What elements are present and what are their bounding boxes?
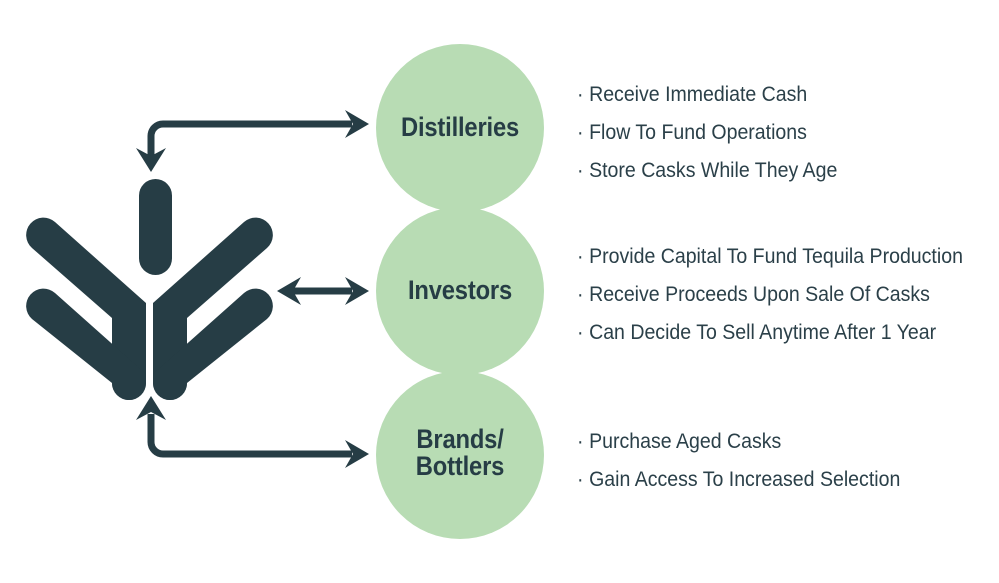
bullet-list-distilleries: ·Receive Immediate Cash ·Flow To Fund Op… [577, 76, 857, 191]
node-circle-investors[interactable] [376, 207, 544, 375]
connector-distilleries [136, 110, 369, 172]
bullet-dot-icon: · [577, 276, 589, 314]
node-circle-brands-bottlers[interactable] [376, 371, 544, 539]
bullet-item: ·Purchase Aged Casks [577, 423, 900, 461]
bullet-text: Receive Proceeds Upon Sale Of Casks [589, 283, 930, 306]
bullet-text: Flow To Fund Operations [589, 121, 807, 144]
connector-investors [277, 277, 369, 305]
bullet-dot-icon: · [577, 314, 589, 352]
logo-center-stem [139, 179, 172, 275]
bullet-dot-icon: · [577, 238, 589, 276]
bullet-item: ·Receive Proceeds Upon Sale Of Casks [577, 276, 963, 314]
bullet-item: ·Store Casks While They Age [577, 152, 837, 190]
bullet-dot-icon: · [577, 461, 589, 499]
agave-logo [26, 179, 273, 400]
bullet-text: Receive Immediate Cash [589, 83, 807, 106]
bullet-text: Purchase Aged Casks [589, 430, 781, 453]
node-circle-distilleries[interactable] [376, 44, 544, 212]
connector-brands-line [151, 414, 352, 454]
bullet-list-investors: ·Provide Capital To Fund Tequila Product… [577, 238, 992, 353]
diagram-canvas: Distilleries Investors Brands/ Bottlers … [0, 0, 999, 583]
bullet-text: Gain Access To Increased Selection [589, 468, 900, 491]
bullet-item: ·Flow To Fund Operations [577, 114, 837, 152]
bullet-dot-icon: · [577, 76, 589, 114]
bullet-item: ·Provide Capital To Fund Tequila Product… [577, 238, 963, 276]
bullet-dot-icon: · [577, 423, 589, 461]
bullet-dot-icon: · [577, 152, 589, 190]
connector-distilleries-line [151, 124, 352, 162]
bullet-item: ·Can Decide To Sell Anytime After 1 Year [577, 314, 963, 352]
bullet-item: ·Receive Immediate Cash [577, 76, 837, 114]
bullet-text: Provide Capital To Fund Tequila Producti… [589, 245, 963, 268]
bullet-item: ·Gain Access To Increased Selection [577, 461, 900, 499]
bullet-dot-icon: · [577, 114, 589, 152]
bullet-text: Store Casks While They Age [589, 159, 837, 182]
bullet-text: Can Decide To Sell Anytime After 1 Year [589, 321, 936, 344]
bullet-list-brands-bottlers: ·Purchase Aged Casks ·Gain Access To Inc… [577, 423, 925, 499]
connector-brands-bottlers [136, 396, 369, 468]
